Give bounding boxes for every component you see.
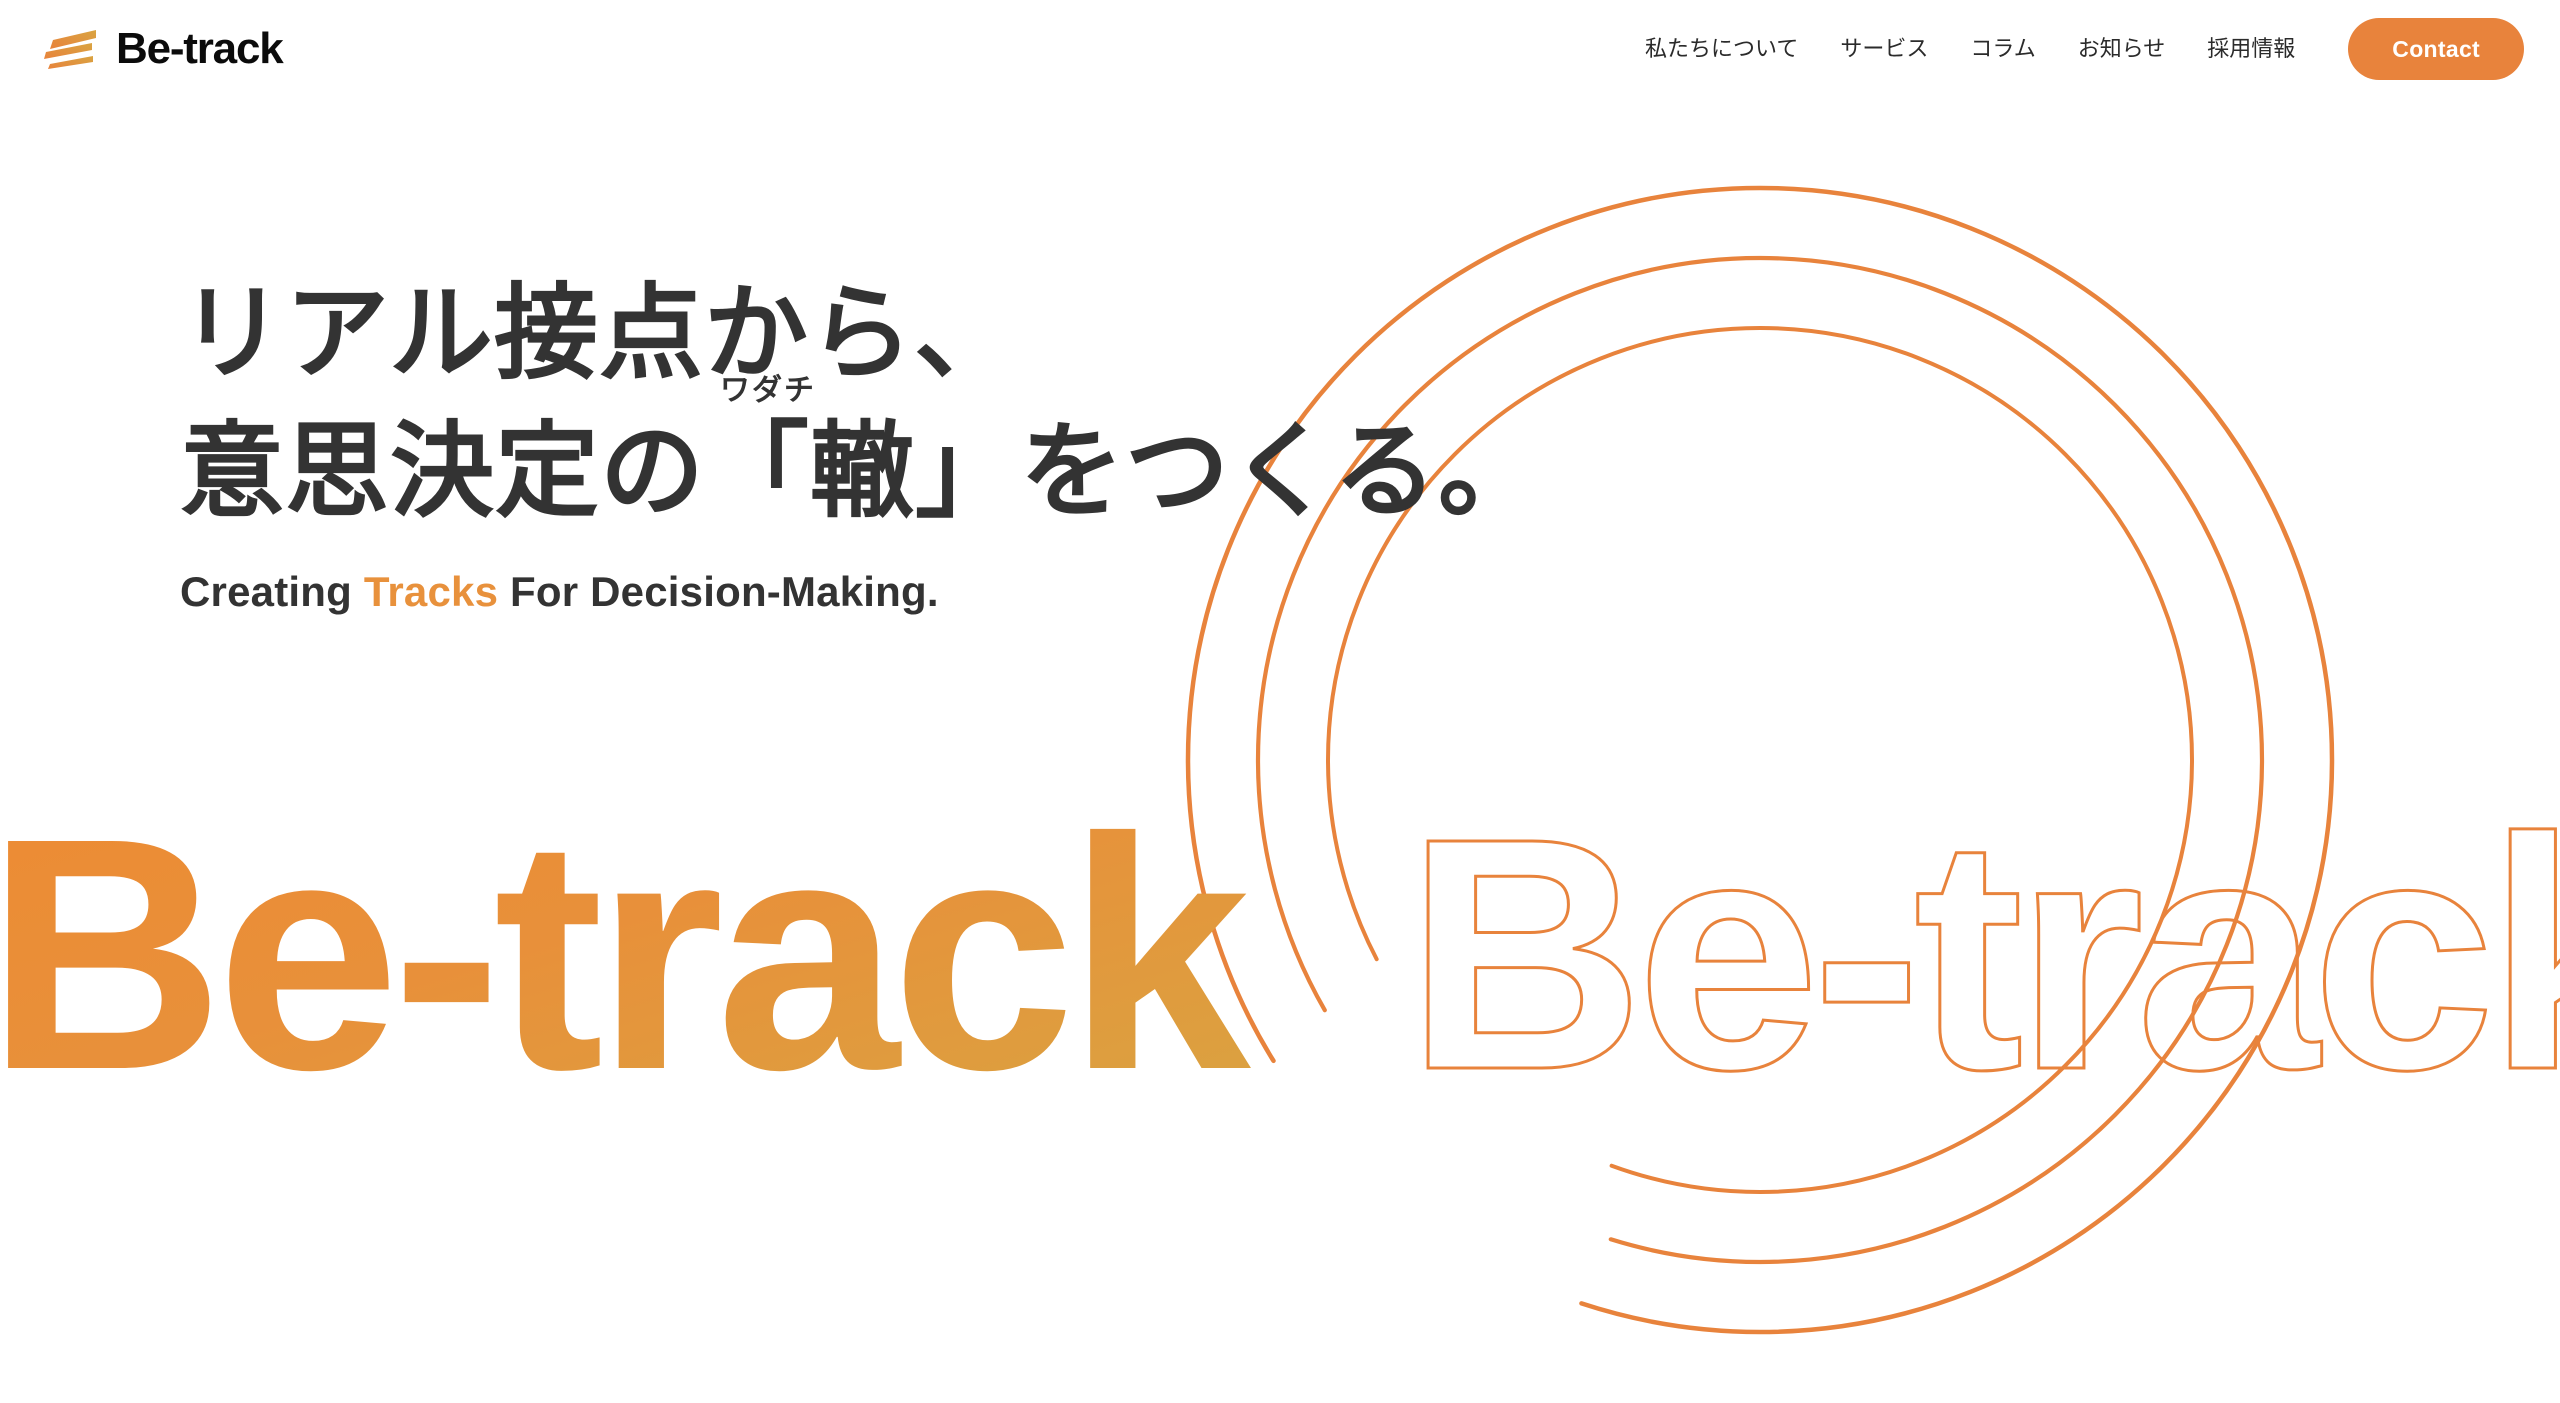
marquee-word-outline: Be-track bbox=[1406, 800, 2560, 1130]
hero-headline-line-1: リアル接点から、 bbox=[180, 282, 1543, 386]
marquee-wordmark: Be-track Be-track bbox=[0, 800, 2560, 1130]
three-slanted-bars-icon bbox=[36, 27, 102, 71]
nav-item-recruit[interactable]: 採用情報 bbox=[2186, 38, 2316, 60]
hero-headline-line-2: ワダチ意思決定の「轍」をつくる。 bbox=[180, 420, 1543, 524]
headline-kanji-wadachi: 轍 bbox=[810, 414, 915, 530]
nav-item-service[interactable]: サービス bbox=[1819, 38, 1949, 60]
nav-item-column[interactable]: コラム bbox=[1949, 38, 2056, 60]
hero-subtitle: Creating Tracks For Decision-Making. bbox=[180, 568, 1543, 616]
subtitle-prefix: Creating bbox=[180, 568, 364, 615]
main-navigation: 私たちについて サービス コラム お知らせ 採用情報 Contact bbox=[1624, 18, 2524, 80]
brand-logo-link[interactable]: Be-track bbox=[36, 27, 283, 71]
nav-item-about[interactable]: 私たちについて bbox=[1624, 38, 1819, 60]
ruby-annotation: ワダチ bbox=[720, 376, 816, 406]
contact-button[interactable]: Contact bbox=[2348, 18, 2524, 80]
subtitle-accent-tracks: Tracks bbox=[364, 568, 498, 615]
decorative-circles bbox=[0, 0, 2560, 1403]
marquee-word-solid: Be-track bbox=[0, 800, 1253, 1130]
brand-name: Be-track bbox=[116, 27, 283, 71]
subtitle-suffix: For Decision-Making. bbox=[498, 568, 939, 615]
headline-suffix: 」をつくる。 bbox=[915, 414, 1543, 530]
landing-page: Be-track 私たちについて サービス コラム お知らせ 採用情報 Cont… bbox=[0, 0, 2560, 1403]
site-header: Be-track 私たちについて サービス コラム お知らせ 採用情報 Cont… bbox=[0, 0, 2560, 98]
hero-copy: リアル接点から、 ワダチ意思決定の「轍」をつくる。 Creating Track… bbox=[180, 282, 1543, 616]
headline-prefix: 意思決定の「 bbox=[180, 414, 810, 530]
nav-item-news[interactable]: お知らせ bbox=[2057, 38, 2187, 60]
